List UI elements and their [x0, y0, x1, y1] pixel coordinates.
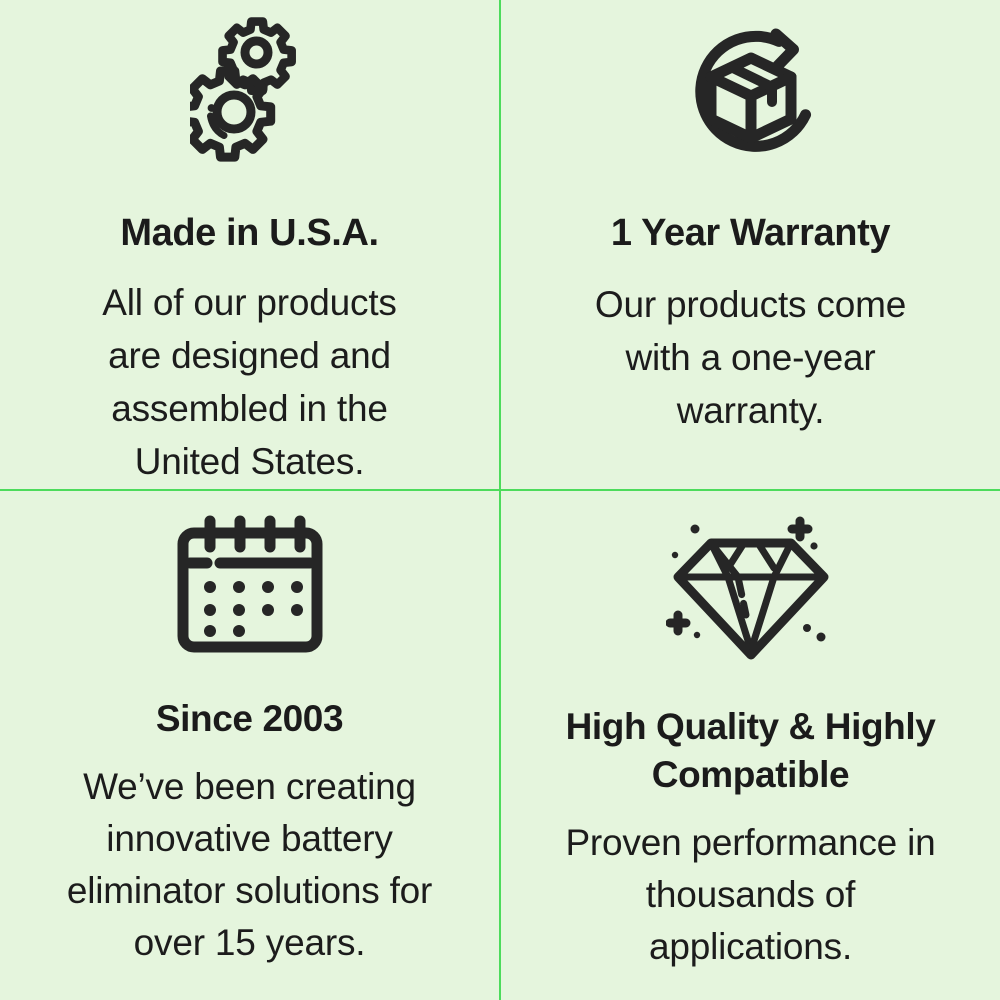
diamond-icon	[666, 515, 836, 665]
feature-card-since-2003: Since 2003 We’ve been creating innovativ…	[0, 491, 499, 1000]
feature-card-made-in-usa: Made in U.S.A. All of our products are d…	[0, 0, 499, 489]
card-body: Proven performance in thousands of appli…	[561, 817, 941, 972]
card-body: Our products come with a one-year warran…	[562, 278, 940, 438]
card-title: High Quality & Highly Compatible	[536, 703, 966, 799]
calendar-icon	[174, 515, 326, 655]
horizontal-divider	[0, 489, 1000, 491]
feature-grid: Made in U.S.A. All of our products are d…	[0, 0, 1000, 1000]
card-body: We’ve been creating innovative battery e…	[50, 761, 450, 968]
feature-card-warranty: 1 Year Warranty Our products come with a…	[501, 0, 1000, 489]
card-title: Since 2003	[156, 700, 343, 738]
card-title: Made in U.S.A.	[120, 214, 378, 254]
vertical-divider	[499, 0, 501, 1000]
package-return-icon	[676, 16, 826, 168]
card-body: All of our products are designed and ass…	[75, 276, 425, 489]
card-title: 1 Year Warranty	[611, 214, 890, 254]
gears-icon	[190, 16, 310, 168]
feature-card-high-quality: High Quality & Highly Compatible Proven …	[501, 491, 1000, 1000]
